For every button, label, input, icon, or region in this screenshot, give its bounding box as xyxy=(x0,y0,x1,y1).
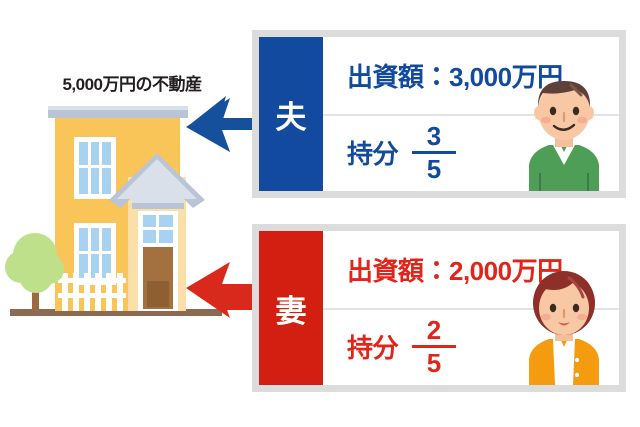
share-denominator-wife: 5 xyxy=(417,349,451,377)
share-fraction-husband: 3 5 xyxy=(412,122,456,183)
share-numerator-husband: 3 xyxy=(417,122,451,150)
person-tag-husband: 夫 xyxy=(259,37,323,191)
share-label-wife: 持分 xyxy=(347,328,398,365)
card-husband-inner: 夫 出資額：3,000万円 持分 3 5 xyxy=(259,37,619,191)
person-tag-wife: 妻 xyxy=(259,231,323,385)
diagram-canvas: 5,000万円の不動産 xyxy=(0,0,640,427)
man-avatar xyxy=(509,73,619,191)
card-husband[interactable]: 夫 出資額：3,000万円 持分 3 5 xyxy=(252,30,626,198)
share-numerator-wife: 2 xyxy=(417,316,451,344)
share-fraction-wife: 2 5 xyxy=(412,316,456,377)
share-denominator-husband: 5 xyxy=(417,155,451,183)
share-block-wife: 持分 2 5 xyxy=(323,316,456,377)
card-wife[interactable]: 妻 出資額：2,000万円 持分 2 5 xyxy=(252,224,626,392)
woman-avatar xyxy=(509,267,619,385)
card-wife-inner: 妻 出資額：2,000万円 持分 2 5 xyxy=(259,231,619,385)
share-label-husband: 持分 xyxy=(347,134,398,171)
property-value-label: 5,000万円の不動産 xyxy=(42,70,222,95)
share-block-husband: 持分 3 5 xyxy=(323,122,456,183)
